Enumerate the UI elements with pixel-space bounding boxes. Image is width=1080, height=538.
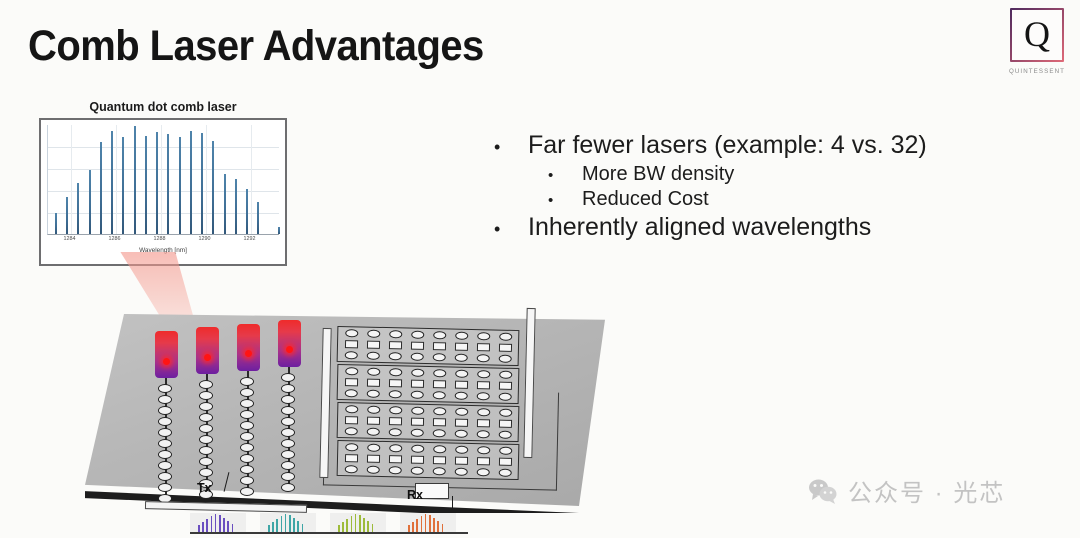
rx-channel-cell <box>476 370 493 402</box>
rx-channel-cell <box>344 367 361 399</box>
chart-xtick-label: 1292 <box>244 236 256 242</box>
output-comb-3 <box>330 513 386 532</box>
tx-ring-modulator <box>281 384 295 393</box>
bullet-marker-icon: • <box>494 137 528 158</box>
output-comb-line <box>342 522 344 532</box>
tx-label: Tx <box>197 481 212 495</box>
tx-ring-modulator <box>158 406 172 415</box>
rx-photodetector <box>411 418 424 426</box>
output-comb-line <box>268 525 270 532</box>
output-comb-line <box>211 516 213 532</box>
rx-drop-ring <box>367 390 380 398</box>
comb-line <box>66 197 68 234</box>
rx-drop-ring <box>389 444 402 452</box>
rx-photodetector <box>477 381 490 389</box>
rx-drop-ring <box>455 370 468 378</box>
tx-ring-modulator <box>199 468 213 477</box>
rx-photodetector <box>455 381 468 389</box>
rx-drop-ring <box>433 391 446 399</box>
rx-channel-cell <box>498 371 515 403</box>
comb-line <box>156 132 158 234</box>
rx-photodetector <box>411 342 424 350</box>
tx-ring-modulator <box>240 432 254 441</box>
tx-ring-modulator <box>158 384 172 393</box>
comb-line <box>100 142 102 234</box>
watermark: 公众号 · 光芯 <box>808 473 1005 508</box>
tx-ring-modulator <box>281 428 295 437</box>
rx-drop-ring <box>411 467 424 475</box>
output-comb-line <box>425 514 427 532</box>
rx-drop-ring <box>411 391 424 399</box>
comb-laser-source-3 <box>237 324 260 371</box>
spectrum-chart: Quantum dot comb laser 12841286128812901… <box>39 100 287 266</box>
output-comb-line <box>272 522 274 532</box>
chart-gridline-v <box>71 125 72 234</box>
rx-drop-ring <box>411 353 424 361</box>
rx-drop-ring <box>389 466 402 474</box>
rx-photodetector <box>345 416 358 424</box>
comb-laser-source-1 <box>155 331 178 378</box>
rx-drop-ring <box>433 429 446 437</box>
rx-drop-ring <box>433 467 446 475</box>
rx-photodetector <box>345 340 358 348</box>
tx-ring-modulator <box>240 465 254 474</box>
rx-channel-cell <box>388 444 405 476</box>
output-comb-4 <box>400 513 456 532</box>
comb-line <box>179 137 181 234</box>
rx-drop-ring <box>499 355 512 363</box>
rx-drop-ring <box>455 446 468 454</box>
rx-drop-ring <box>345 427 358 435</box>
rx-drop-ring <box>389 368 402 376</box>
rx-channel-cell <box>366 330 383 362</box>
chart-xtick-label: 1288 <box>154 236 166 242</box>
output-comb-line <box>408 525 410 532</box>
comb-line <box>190 131 192 234</box>
rx-channel-cell <box>498 333 515 365</box>
rx-photodetector <box>389 379 402 387</box>
rx-channel-cell <box>454 370 471 402</box>
rx-photodetector <box>367 341 380 349</box>
rx-photodetector <box>411 380 424 388</box>
rx-drop-ring <box>499 333 512 341</box>
rx-drop-ring <box>455 408 468 416</box>
chart-xtick-label: 1290 <box>199 236 211 242</box>
bullet-marker-icon: • <box>548 167 582 184</box>
rx-photodetector <box>433 380 446 388</box>
tx-ring-modulator <box>158 439 172 448</box>
slide-canvas: Comb Laser Advantages Q QUINTESSENT Quan… <box>0 0 1080 538</box>
rx-drop-ring <box>433 369 446 377</box>
output-comb-line <box>363 518 365 532</box>
chart-plot-area <box>47 125 279 235</box>
tx-ring-modulator <box>158 428 172 437</box>
chart-xtick-label: 1284 <box>64 236 76 242</box>
bullet-text: More BW density <box>582 163 734 186</box>
output-comb-line <box>206 519 208 532</box>
chart-gridline-v <box>206 125 207 234</box>
rx-channel-cell <box>410 407 427 439</box>
watermark-text: 公众号 · 光芯 <box>848 473 1005 508</box>
comb-line <box>278 227 280 234</box>
logo-inner: Q <box>1012 10 1062 60</box>
chart-frame: 12841286128812901292 Wavelength [nm] <box>39 118 287 266</box>
rx-channel-cell <box>432 369 449 401</box>
comb-line <box>257 202 259 234</box>
photonic-chip-diagram: Tx Rx <box>85 300 625 538</box>
comb-line <box>201 133 203 234</box>
tx-ring-modulator <box>240 421 254 430</box>
rx-drop-ring <box>477 468 490 476</box>
bullet-list: •Far fewer lasers (example: 4 vs. 32)•Mo… <box>494 131 1024 245</box>
tx-ring-modulator <box>158 472 172 481</box>
rx-drop-ring <box>499 431 512 439</box>
rx-drop-ring <box>411 369 424 377</box>
rx-drop-ring <box>433 407 446 415</box>
rx-drop-ring <box>367 368 380 376</box>
rx-lead-line <box>452 496 453 508</box>
rx-channel-cell <box>366 406 383 438</box>
rx-drop-ring <box>389 352 402 360</box>
rx-photodetector <box>389 341 402 349</box>
rx-channel-cell <box>432 407 449 439</box>
tx-ring-modulator <box>199 446 213 455</box>
rx-channel-cell <box>476 408 493 440</box>
output-comb-line <box>442 524 444 532</box>
output-comb-line <box>232 524 234 532</box>
rx-drop-ring <box>345 329 358 337</box>
rx-drop-ring <box>345 389 358 397</box>
output-comb-line <box>281 516 283 532</box>
rx-photodetector <box>499 458 512 466</box>
rx-photodetector <box>433 342 446 350</box>
logo-box: Q <box>1010 8 1064 62</box>
rx-drop-ring <box>389 330 402 338</box>
rx-photodetector <box>477 419 490 427</box>
tx-ring-modulator <box>240 476 254 485</box>
rx-drop-ring <box>455 430 468 438</box>
rx-drop-ring <box>455 332 468 340</box>
tx-ring-modulator <box>158 483 172 492</box>
rx-drop-ring <box>367 466 380 474</box>
comb-line <box>134 126 136 234</box>
rx-photodetector <box>455 343 468 351</box>
comb-line <box>55 213 57 234</box>
output-comb-line <box>437 521 439 532</box>
rx-channel-row-3 <box>337 402 520 442</box>
rx-photodetector <box>367 417 380 425</box>
rx-drop-ring <box>367 352 380 360</box>
rx-photodetector <box>411 456 424 464</box>
rx-channel-cell <box>344 443 361 475</box>
rx-photodetector <box>367 379 380 387</box>
rx-photodetector <box>389 455 402 463</box>
rx-drop-ring <box>477 446 490 454</box>
output-comb-spectra <box>190 508 470 538</box>
comb-line <box>122 137 124 234</box>
output-comb-line <box>297 521 299 532</box>
rx-channel-cell <box>366 444 383 476</box>
tx-ring-modulator <box>240 487 254 496</box>
brand-logo: Q QUINTESSENT <box>1001 8 1073 75</box>
rx-drop-ring <box>345 351 358 359</box>
tx-ring-modulator <box>281 483 295 492</box>
rx-drop-ring <box>433 353 446 361</box>
output-comb-line <box>429 515 431 532</box>
rx-photodetector <box>433 418 446 426</box>
rx-drop-ring <box>499 447 512 455</box>
rx-drop-ring <box>477 430 490 438</box>
comb-line <box>145 136 147 234</box>
rx-channel-cell <box>388 330 405 362</box>
rx-drop-ring <box>389 390 402 398</box>
output-comb-line <box>198 525 200 532</box>
logo-q-mark: Q <box>1024 16 1050 52</box>
tx-ring-chain-3 <box>240 371 256 493</box>
bullet-text: Far fewer lasers (example: 4 vs. 32) <box>528 131 927 160</box>
rx-drop-ring <box>455 468 468 476</box>
rx-label: Rx <box>407 488 423 502</box>
tx-ring-modulator <box>199 457 213 466</box>
chart-gridline-v <box>251 125 252 234</box>
output-comb-line <box>276 519 278 532</box>
tx-ring-modulator <box>281 395 295 404</box>
rx-drop-ring <box>477 370 490 378</box>
tx-ring-modulator <box>281 406 295 415</box>
bullet-item-3: •Reduced Cost <box>494 188 1024 211</box>
tx-ring-modulator <box>281 439 295 448</box>
rx-drop-ring <box>499 393 512 401</box>
rx-drop-ring <box>455 392 468 400</box>
page-title: Comb Laser Advantages <box>28 22 484 71</box>
rx-photodetector <box>455 419 468 427</box>
rx-channel-cell <box>410 331 427 363</box>
chart-xaxis-label: Wavelength [nm] <box>47 247 279 254</box>
rx-photodetector <box>345 454 358 462</box>
rx-channel-cell <box>432 445 449 477</box>
tx-ring-modulator <box>199 413 213 422</box>
output-comb-line <box>338 525 340 532</box>
wechat-icon <box>808 478 838 504</box>
rx-drop-ring <box>411 407 424 415</box>
tx-ring-modulator <box>158 461 172 470</box>
rx-channel-row-1 <box>337 326 520 366</box>
rx-drop-ring <box>477 408 490 416</box>
chart-gridline-v <box>161 125 162 234</box>
tx-ring-modulator <box>240 410 254 419</box>
output-comb-line <box>412 522 414 532</box>
comb-line <box>235 179 237 234</box>
output-comb-axis <box>190 532 468 534</box>
bullet-marker-icon: • <box>548 192 582 209</box>
rx-channel-cell <box>388 406 405 438</box>
rx-photodetector <box>455 457 468 465</box>
chart-gridline-h <box>48 213 279 214</box>
tx-ring-modulator <box>158 395 172 404</box>
rx-drop-ring <box>499 409 512 417</box>
rx-drop-ring <box>411 429 424 437</box>
output-comb-line <box>227 521 229 532</box>
tx-ring-modulator <box>158 450 172 459</box>
tx-ring-modulator <box>199 424 213 433</box>
tx-ring-modulator <box>240 454 254 463</box>
output-comb-line <box>421 516 423 532</box>
rx-channel-cell <box>344 329 361 361</box>
rx-photodetector <box>433 456 446 464</box>
output-comb-line <box>416 519 418 532</box>
bullet-item-1: •Far fewer lasers (example: 4 vs. 32) <box>494 131 1024 160</box>
tx-ring-modulator <box>281 450 295 459</box>
chart-gridline-h <box>48 191 279 192</box>
output-comb-line <box>285 514 287 532</box>
chart-gridline-h <box>48 169 279 170</box>
bullet-item-2: •More BW density <box>494 163 1024 186</box>
rx-channel-cell <box>388 368 405 400</box>
rx-drop-ring <box>499 371 512 379</box>
rx-drop-ring <box>411 445 424 453</box>
comb-line <box>167 134 169 234</box>
rx-channel-row-4 <box>337 440 520 480</box>
rx-drop-ring <box>455 354 468 362</box>
rx-drop-ring <box>389 406 402 414</box>
tx-ring-modulator <box>199 435 213 444</box>
comb-line <box>89 170 91 234</box>
bullet-text: Inherently aligned wavelengths <box>528 213 871 242</box>
tx-ring-chain-4 <box>281 367 297 489</box>
rx-drop-ring <box>433 331 446 339</box>
rx-channel-cell <box>454 408 471 440</box>
output-comb-line <box>215 514 217 532</box>
output-comb-line <box>219 515 221 532</box>
tx-ring-modulator <box>281 461 295 470</box>
rx-photodetector <box>477 343 490 351</box>
rx-channel-cell <box>454 332 471 364</box>
bullet-marker-icon: • <box>494 219 528 240</box>
output-comb-line <box>346 519 348 532</box>
rx-channel-cell <box>410 369 427 401</box>
chart-gridline-h <box>48 147 279 148</box>
tx-ring-chain-1 <box>158 378 174 500</box>
rx-drop-ring <box>367 330 380 338</box>
rx-drop-ring <box>345 367 358 375</box>
rx-photodetector <box>499 344 512 352</box>
rx-drop-ring <box>411 331 424 339</box>
tx-ring-modulator <box>158 417 172 426</box>
tx-ring-modulator <box>281 472 295 481</box>
tx-ring-modulator <box>240 377 254 386</box>
tx-ring-modulator <box>199 402 213 411</box>
chart-xtick-label: 1286 <box>109 236 121 242</box>
tx-ring-modulator <box>199 391 213 400</box>
output-comb-2 <box>260 513 316 532</box>
rx-drop-ring <box>345 465 358 473</box>
rx-channel-cell <box>498 409 515 441</box>
rx-channel-cell <box>476 446 493 478</box>
rx-drop-ring <box>477 392 490 400</box>
rx-drop-ring <box>389 428 402 436</box>
output-comb-line <box>433 518 435 532</box>
output-comb-line <box>223 518 225 532</box>
rx-channel-row-2 <box>337 364 520 404</box>
output-comb-1 <box>190 513 246 532</box>
rx-photodetector <box>345 378 358 386</box>
output-comb-line <box>302 524 304 532</box>
output-comb-line <box>351 516 353 532</box>
rx-channel-cell <box>366 368 383 400</box>
output-comb-line <box>372 524 374 532</box>
tx-ring-modulator <box>281 373 295 382</box>
rx-drop-ring <box>367 444 380 452</box>
rx-drop-ring <box>477 332 490 340</box>
tx-ring-modulator <box>199 380 213 389</box>
chart-title: Quantum dot comb laser <box>39 100 287 114</box>
chart-gridline-v <box>116 125 117 234</box>
rx-channel-cell <box>454 446 471 478</box>
rx-photodetector <box>499 382 512 390</box>
bullet-text: Reduced Cost <box>582 188 709 211</box>
rx-channel-cell <box>432 331 449 363</box>
comb-line <box>224 174 226 235</box>
rx-photodetector <box>499 420 512 428</box>
output-comb-line <box>202 522 204 532</box>
comb-laser-source-2 <box>196 327 219 374</box>
rx-drop-ring <box>499 469 512 477</box>
tx-ring-modulator <box>240 388 254 397</box>
rx-drop-ring <box>345 443 358 451</box>
output-comb-line <box>367 521 369 532</box>
tx-ring-chain-2 <box>199 374 215 496</box>
rx-drop-ring <box>477 354 490 362</box>
chart-xtick-row: 12841286128812901292 <box>47 235 279 246</box>
rx-channel-cell <box>410 445 427 477</box>
output-comb-line <box>359 515 361 532</box>
rx-drop-ring <box>345 405 358 413</box>
comb-line <box>111 131 113 234</box>
rx-photodetector <box>477 457 490 465</box>
rx-photodetector <box>389 417 402 425</box>
bullet-item-4: •Inherently aligned wavelengths <box>494 213 1024 242</box>
output-comb-line <box>293 518 295 532</box>
comb-line <box>246 189 248 234</box>
comb-laser-source-4 <box>278 320 301 367</box>
rx-photodetector <box>367 455 380 463</box>
comb-line <box>77 183 79 234</box>
rx-channel-cell <box>498 447 515 479</box>
tx-ring-modulator <box>240 443 254 452</box>
comb-line <box>212 141 214 235</box>
rx-drop-ring <box>367 428 380 436</box>
output-comb-line <box>289 515 291 532</box>
rx-channel-cell <box>344 405 361 437</box>
rx-drop-ring <box>433 445 446 453</box>
rx-drop-ring <box>367 406 380 414</box>
tx-ring-modulator <box>240 399 254 408</box>
logo-caption: QUINTESSENT <box>1001 68 1073 75</box>
rx-channel-cell <box>476 332 493 364</box>
tx-ring-modulator <box>281 417 295 426</box>
output-comb-line <box>355 514 357 532</box>
